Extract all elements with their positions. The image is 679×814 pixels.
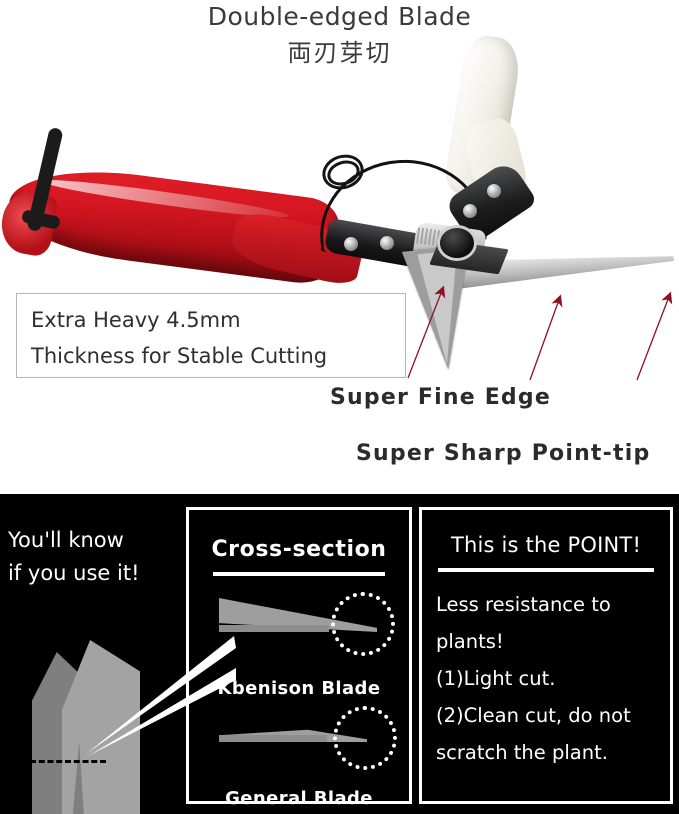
- cross-section-title: Cross-section: [189, 537, 409, 562]
- know-line-2: if you use it!: [8, 557, 184, 590]
- point-line-4: (2)Clean cut, do not: [436, 697, 668, 734]
- kbenison-wedge-base-graphic: [219, 625, 329, 632]
- thickness-callout-line-1: Extra Heavy 4.5mm: [31, 302, 405, 338]
- rivet-icon: [487, 184, 501, 198]
- page-title-japanese: 両刃芽切: [0, 33, 679, 68]
- rivet-icon: [380, 236, 394, 250]
- know-if-you-use-it-text: You'll know if you use it!: [8, 524, 184, 590]
- caption-kbenison-blade: Kbenison Blade: [189, 678, 409, 699]
- point-line-3: (1)Light cut.: [436, 660, 668, 697]
- photo-section: Double-edged Blade 両刃芽切 Extra Heavy 4.5m…: [0, 0, 679, 492]
- highlight-circle-icon: [333, 706, 397, 770]
- panel-column-cross-section: Cross-section Kbenison Blade General Bla…: [186, 507, 412, 804]
- blade-tip-diagram: [24, 634, 174, 814]
- point-line-2: plants!: [436, 623, 668, 660]
- panel-column-left: You'll know if you use it!: [0, 494, 186, 814]
- caption-general-blade: General Blade: [189, 788, 409, 809]
- blade-tip-dashed-guide: [30, 760, 106, 763]
- page-title: Double-edged Blade: [0, 2, 679, 31]
- highlight-circle-icon: [331, 592, 395, 656]
- thickness-callout-box: Extra Heavy 4.5mm Thickness for Stable C…: [16, 293, 406, 378]
- wedge-row-general: [203, 702, 399, 776]
- cross-section-underline: [213, 572, 385, 576]
- label-super-fine-edge: Super Fine Edge: [330, 385, 551, 410]
- label-super-sharp-point-tip: Super Sharp Point-tip: [356, 441, 650, 466]
- pivot-bolt-graphic: [440, 228, 474, 258]
- point-line-5: scratch the plant.: [436, 734, 668, 771]
- feature-panel: You'll know if you use it! Cross-section: [0, 492, 679, 814]
- general-wedge-base-graphic: [219, 735, 327, 742]
- wedge-row-kbenison: [203, 592, 399, 666]
- point-title: This is the POINT!: [422, 533, 670, 557]
- know-line-1: You'll know: [8, 524, 184, 557]
- rivet-icon: [344, 237, 358, 251]
- panel-column-point: This is the POINT! Less resistance to pl…: [419, 507, 673, 804]
- point-underline: [438, 568, 654, 572]
- point-body-text: Less resistance to plants! (1)Light cut.…: [436, 586, 668, 771]
- rivet-icon: [463, 204, 477, 218]
- thickness-callout-line-2: Thickness for Stable Cutting: [31, 338, 405, 374]
- product-infographic: Double-edged Blade 両刃芽切 Extra Heavy 4.5m…: [0, 0, 679, 814]
- point-line-1: Less resistance to: [436, 586, 668, 623]
